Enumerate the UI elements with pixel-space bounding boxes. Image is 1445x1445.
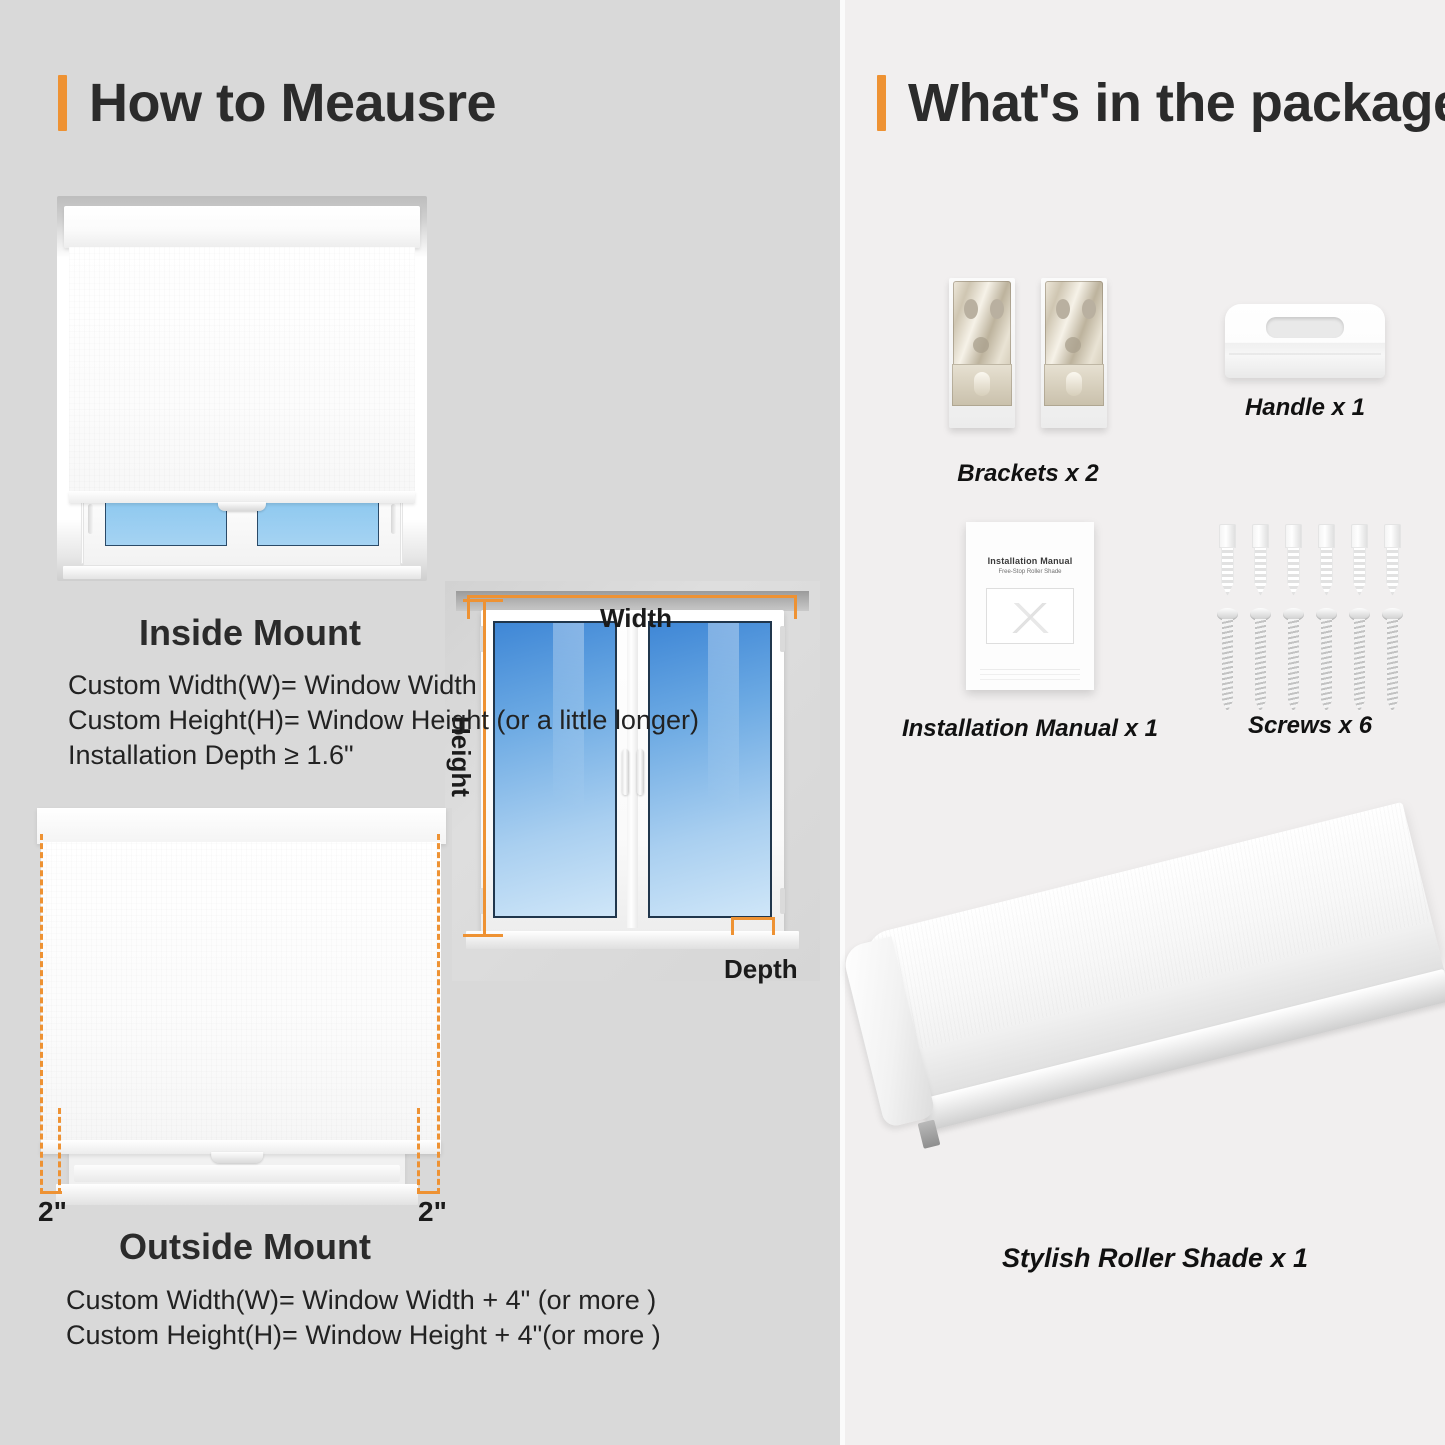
overhang-guide-left: [40, 834, 43, 1194]
window-edge-guide-left: [58, 1108, 61, 1194]
roller-shade-label: Stylish Roller Shade x 1: [885, 1243, 1425, 1274]
overhang-label-left: 2": [38, 1196, 67, 1228]
depth-measure-tick-left: [731, 917, 734, 935]
window-sill: [466, 931, 800, 949]
wall-anchors-row: [1185, 524, 1435, 596]
accent-bar-icon: [58, 75, 67, 131]
accent-bar-icon: [877, 75, 886, 131]
screw-icon: [1286, 608, 1301, 712]
outside-mount-shade-illustration: [22, 808, 452, 1228]
shade-cassette: [64, 206, 419, 248]
installation-manual-label: Installation Manual x 1: [865, 715, 1195, 743]
wall-anchor-icon: [1285, 524, 1302, 596]
overhang-label-right: 2": [418, 1196, 447, 1228]
shade-cassette: [37, 808, 446, 844]
handle-icon: [1225, 304, 1385, 378]
screw-icon: [1319, 608, 1334, 712]
how-to-measure-panel: How to Meausre: [0, 0, 840, 1445]
roller-shade-image: [865, 880, 1445, 1210]
wall-anchor-icon: [1351, 524, 1368, 596]
spec-line: Custom Width(W)= Window Width: [68, 668, 699, 703]
manual-cover-title: Installation Manual: [978, 556, 1082, 566]
window-hinge-top-right-icon: [780, 626, 785, 652]
window-lower-sash: [74, 1165, 401, 1182]
spec-line: Custom Height(H)= Window Height + 4"(or …: [66, 1318, 661, 1353]
manual-cover-subtitle: Free-Stop Roller Shade: [978, 569, 1082, 575]
depth-measure-tick-right: [772, 917, 775, 935]
how-to-measure-title: How to Meausre: [89, 72, 496, 134]
shade-pull-handle: [218, 502, 266, 511]
manual-icon: Installation Manual Free-Stop Roller Sha…: [966, 522, 1094, 690]
shade-fabric: [69, 247, 415, 500]
inside-mount-title: Inside Mount: [60, 612, 440, 654]
manual-cover-illustration: [986, 588, 1074, 644]
installation-manual-image: Installation Manual Free-Stop Roller Sha…: [885, 522, 1175, 690]
screw-icon: [1220, 608, 1235, 712]
window-hinge-bottom-right-icon: [780, 888, 785, 914]
how-to-measure-heading: How to Meausre: [58, 72, 496, 134]
window-glass-left: [105, 498, 227, 546]
window-sill: [56, 1184, 417, 1205]
shade-pull-handle: [211, 1152, 263, 1163]
screws-label: Screws x 6: [1185, 712, 1435, 740]
wall-anchor-icon: [1219, 524, 1236, 596]
screw-icon: [1385, 608, 1400, 712]
width-measure-tick-right: [794, 595, 797, 619]
spec-line: Installation Depth ≥ 1.6": [68, 738, 699, 773]
bracket-lower: [1044, 364, 1104, 406]
wall-anchor-icon: [1252, 524, 1269, 596]
bracket-icon: [1041, 278, 1107, 428]
window-handle-right-icon: [391, 504, 396, 534]
wall-anchor-icon: [1318, 524, 1335, 596]
inside-mount-measure-diagram: Width Height Depth: [445, 581, 820, 981]
brackets-label: Brackets x 2: [903, 460, 1153, 488]
package-contents-panel: What's in the package Brackets x 2 Handl…: [845, 0, 1445, 1445]
overhang-measure-right: [418, 1191, 440, 1194]
spec-line: Custom Width(W)= Window Width + 4" (or m…: [66, 1283, 661, 1318]
brackets-image: [903, 278, 1153, 428]
window-edge-guide-right: [417, 1108, 420, 1194]
infographic-page: How to Meausre: [0, 0, 1445, 1445]
bracket-icon: [949, 278, 1015, 428]
inside-mount-shade-illustration: [57, 196, 427, 581]
inside-mount-specs: Custom Width(W)= Window Width Custom Hei…: [68, 668, 699, 773]
spec-line: Custom Height(H)= Window Height (or a li…: [68, 703, 699, 738]
screws-image: [1185, 524, 1435, 712]
window-glass-right: [257, 498, 379, 546]
screws-row: [1185, 608, 1435, 712]
depth-label: Depth: [724, 954, 798, 985]
overhang-guide-right: [437, 834, 440, 1194]
height-measure-tick-bottom: [463, 934, 503, 937]
window-sill: [63, 566, 422, 579]
overhang-measure-left: [40, 1191, 62, 1194]
outside-mount-title: Outside Mount: [50, 1226, 440, 1268]
width-label: Width: [600, 603, 672, 634]
bracket-lower: [952, 364, 1012, 406]
package-title: What's in the package: [908, 72, 1445, 134]
screw-icon: [1352, 608, 1367, 712]
roller-shade-tube: [825, 745, 1445, 1206]
window-handle-left-icon: [88, 504, 93, 534]
wall-anchor-icon: [1384, 524, 1401, 596]
outside-mount-specs: Custom Width(W)= Window Width + 4" (or m…: [66, 1283, 661, 1353]
height-measure-tick-top: [463, 599, 503, 602]
shade-fabric: [41, 842, 441, 1144]
screw-icon: [1253, 608, 1268, 712]
depth-measure-line: [731, 917, 775, 920]
package-heading: What's in the package: [877, 72, 1445, 134]
handle-label: Handle x 1: [1175, 394, 1435, 422]
manual-cover-footer-lines: [980, 669, 1080, 670]
width-measure-line: [467, 595, 797, 598]
handle-image: [1175, 304, 1435, 378]
